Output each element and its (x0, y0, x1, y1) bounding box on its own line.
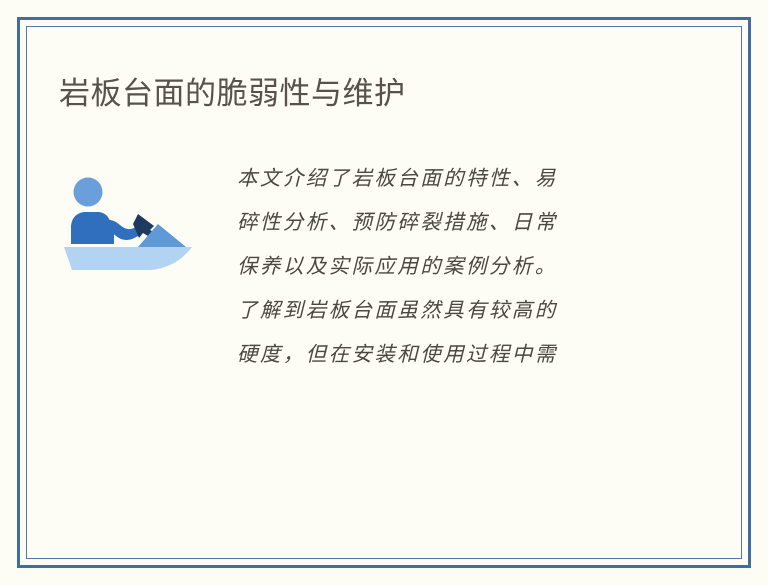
article-body: 本文介绍了岩板台面的特性、易 碎性分析、预防碎裂措施、日常 保养以及实际应用的案… (26, 156, 742, 376)
person-head-shape (74, 178, 103, 207)
illustration-svg (54, 168, 202, 278)
summary-line: 保养以及实际应用的案例分析。 (237, 244, 712, 288)
card-content: 岩板台面的脆弱性与维护 本 (26, 26, 742, 559)
article-summary: 本文介绍了岩板台面的特性、易 碎性分析、预防碎裂措施、日常 保养以及实际应用的案… (237, 156, 742, 376)
summary-line: 硬度，但在安装和使用过程中需 (237, 332, 712, 376)
person-polishing-countertop-illustration (54, 168, 219, 278)
page-title: 岩板台面的脆弱性与维护 (59, 68, 406, 113)
summary-line: 了解到岩板台面虽然具有较高的 (237, 288, 712, 332)
countertop-slab-shape (64, 247, 192, 270)
article-card: 岩板台面的脆弱性与维护 本 (0, 0, 768, 585)
summary-line: 本文介绍了岩板台面的特性、易 (237, 156, 712, 200)
summary-line: 碎性分析、预防碎裂措施、日常 (237, 200, 712, 244)
